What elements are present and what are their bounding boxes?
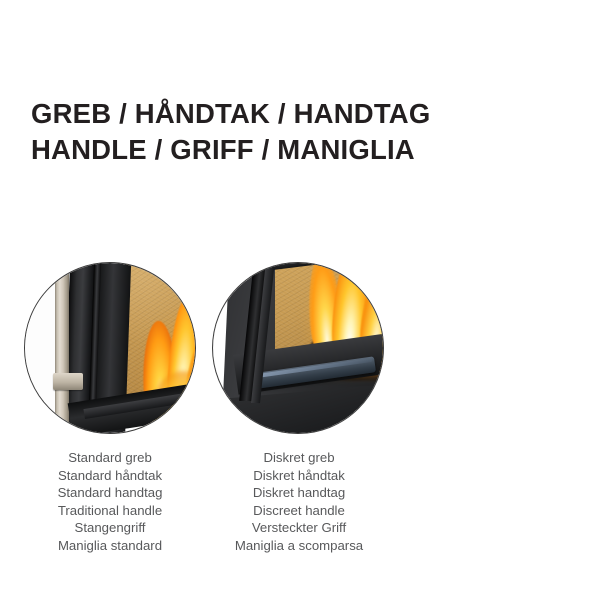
caption-line-en: Discreet handle	[208, 502, 390, 520]
handle-bracket	[53, 373, 83, 390]
caption-line-it: Maniglia standard	[22, 537, 198, 555]
stove-photo-discreet-handle	[213, 263, 383, 433]
caption-standard-handle: Standard greb Standard håndtak Standard …	[22, 449, 198, 555]
page-title-line-1: GREB / HÅNDTAK / HANDTAG	[31, 96, 571, 132]
circle-clip-discreet-handle	[213, 263, 383, 433]
figure-standard-handle	[24, 262, 196, 434]
caption-line-da: Diskret greb	[208, 449, 390, 467]
caption-line-sv: Diskret handtag	[208, 484, 390, 502]
product-option-sheet: GREB / HÅNDTAK / HANDTAG HANDLE / GRIFF …	[0, 0, 600, 600]
page-title: GREB / HÅNDTAK / HANDTAG HANDLE / GRIFF …	[31, 96, 571, 168]
figure-discreet-handle	[212, 262, 384, 434]
caption-discreet-handle: Diskret greb Diskret håndtak Diskret han…	[208, 449, 390, 555]
caption-line-de: Versteckter Griff	[208, 519, 390, 537]
stove-photo-standard-handle	[25, 263, 195, 433]
caption-line-de: Stangengriff	[22, 519, 198, 537]
circle-frame-discreet-handle	[212, 262, 384, 434]
caption-line-en: Traditional handle	[22, 502, 198, 520]
caption-line-it: Maniglia a scomparsa	[208, 537, 390, 555]
circle-frame-standard-handle	[24, 262, 196, 434]
circle-clip-standard-handle	[25, 263, 195, 433]
wall-backdrop	[25, 263, 59, 433]
caption-line-no: Standard håndtak	[22, 467, 198, 485]
caption-line-no: Diskret håndtak	[208, 467, 390, 485]
caption-line-da: Standard greb	[22, 449, 198, 467]
page-title-line-2: HANDLE / GRIFF / MANIGLIA	[31, 132, 571, 168]
caption-line-sv: Standard handtag	[22, 484, 198, 502]
